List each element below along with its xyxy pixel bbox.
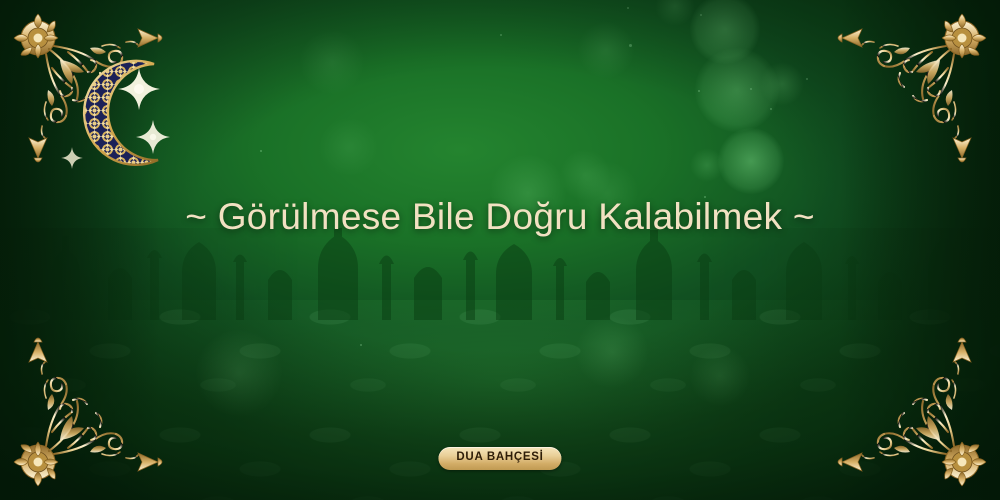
corner-ornament-bottom-right <box>833 333 998 498</box>
corner-ornament-top-right <box>833 2 998 167</box>
crescent-moon-icon <box>62 52 182 177</box>
page-title: ~ Görülmese Bile Doğru Kalabilmek ~ <box>0 196 1000 238</box>
status-badge[interactable]: DUA BAHÇESİ <box>438 447 561 470</box>
corner-ornament-bottom-left <box>2 333 167 498</box>
islamic-greeting-banner: ~ Görülmese Bile Doğru Kalabilmek ~ DUA … <box>0 0 1000 500</box>
